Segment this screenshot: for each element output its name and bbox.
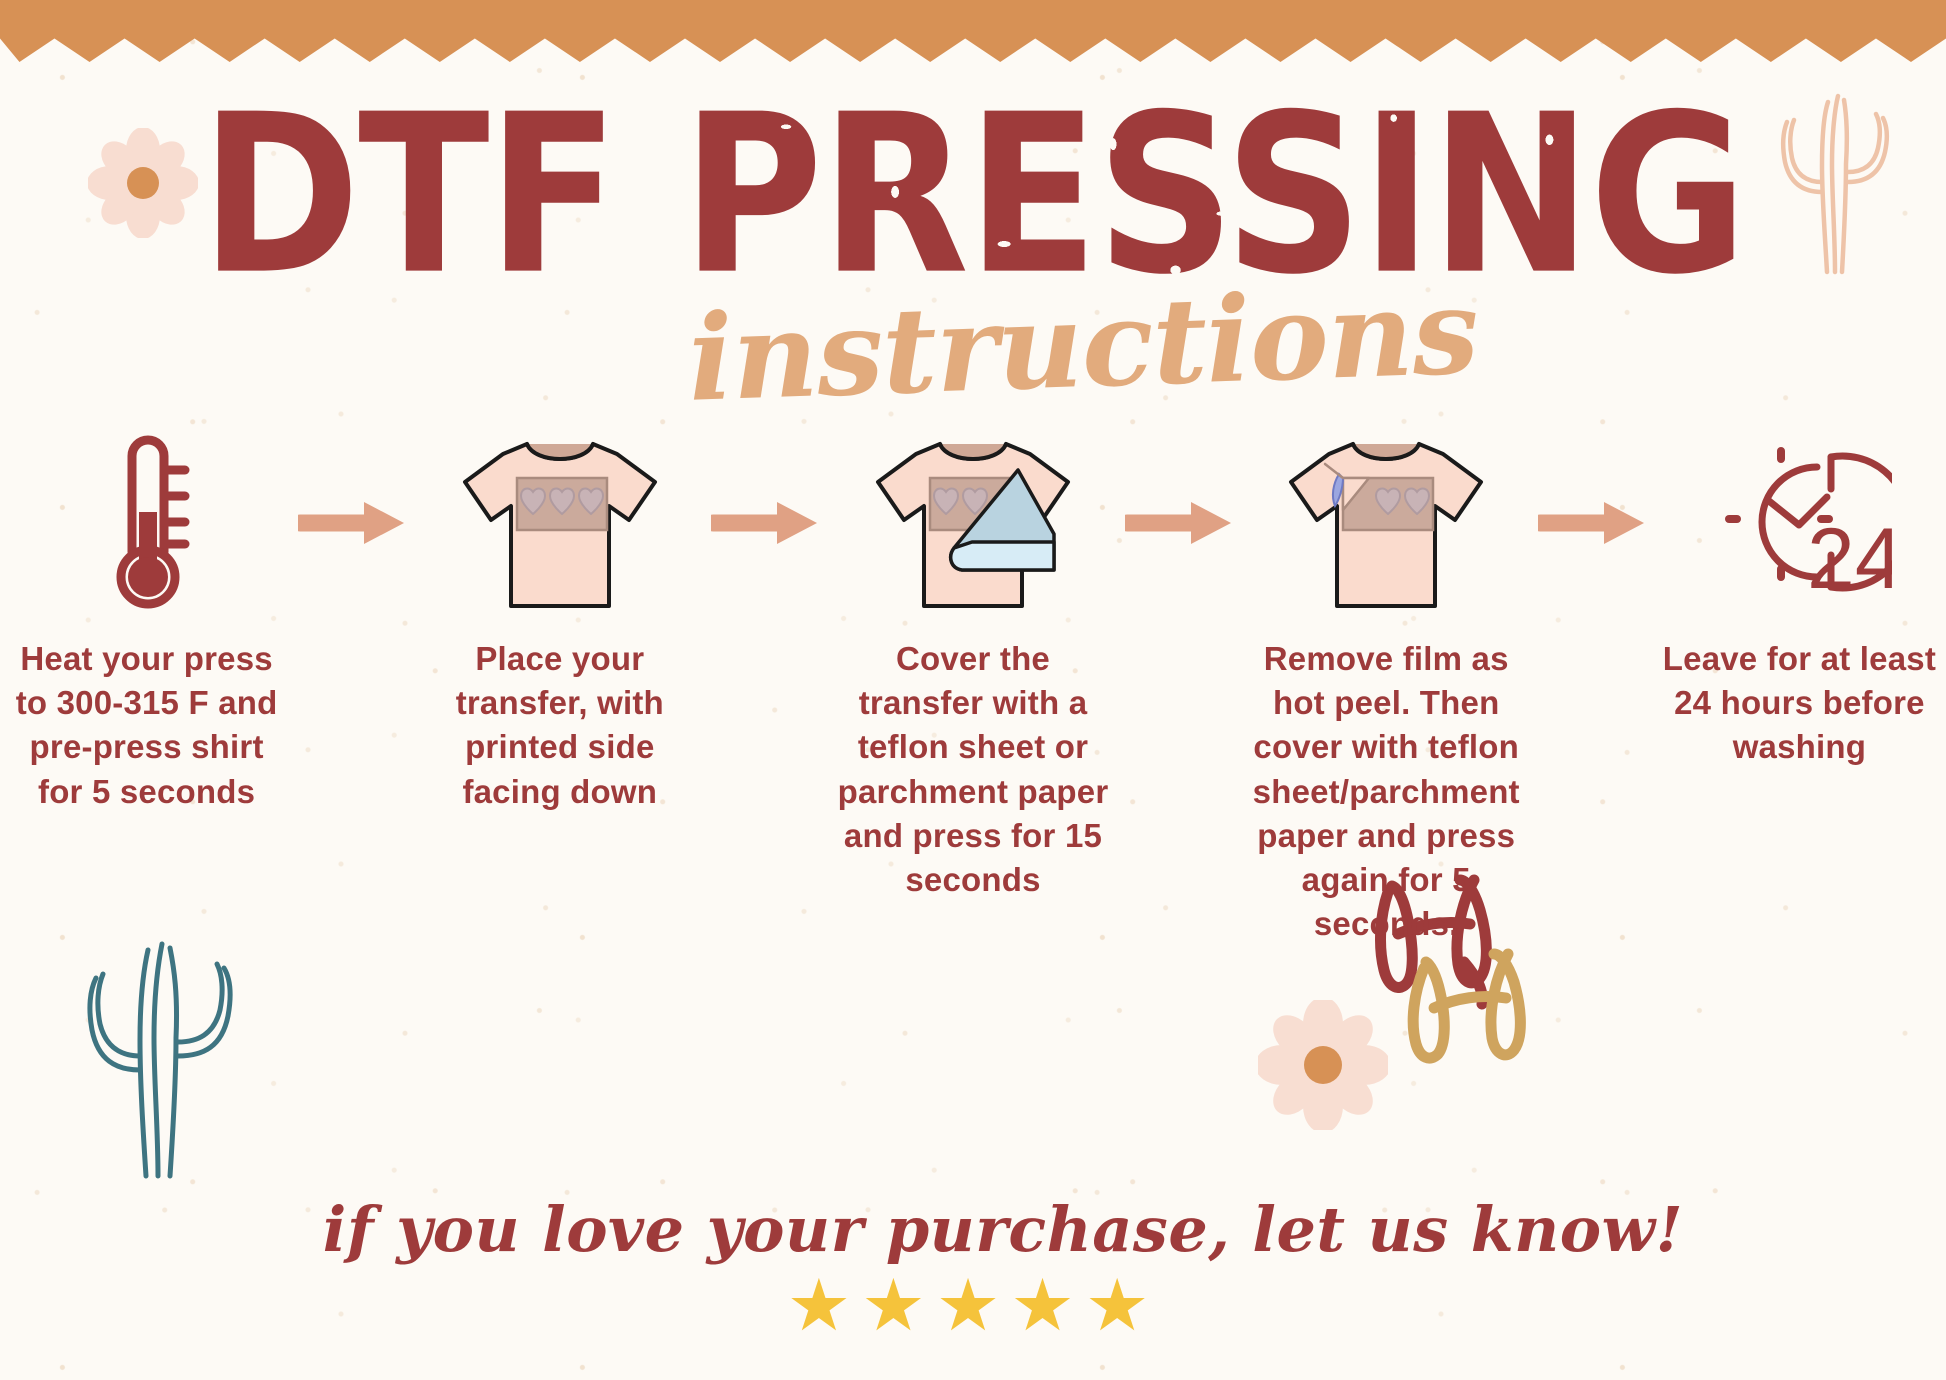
star-icon-3: ★ (936, 1270, 1011, 1342)
clock-24-hours-icon: 24 (1707, 430, 1892, 615)
star-icon-2: ★ (861, 1270, 936, 1342)
step-3-text: Cover the transfer with a teflon sheet o… (836, 637, 1111, 902)
tshirt-peel-film-icon (1281, 430, 1491, 615)
step-5: 24 Leave for at least 24 hours before wa… (1653, 430, 1946, 770)
tshirt-with-transfer-icon (455, 430, 665, 615)
cactus-bottom-left-icon (78, 930, 248, 1185)
arrow-right-icon-4 (1533, 430, 1653, 615)
clock-badge-number: 24 (1807, 511, 1892, 607)
star-icon-4: ★ (1010, 1270, 1085, 1342)
step-4-text: Remove film as hot peel. Then cover with… (1249, 637, 1524, 947)
header: DTF PRESSING instructions (0, 95, 1946, 261)
thermometer-icon (82, 430, 212, 615)
star-icon-1: ★ (787, 1270, 862, 1342)
arrow-right-icon-1 (293, 430, 413, 615)
instruction-steps: Heat your press to 300-315 F and pre-pre… (0, 430, 1946, 900)
star-icon-5: ★ (1085, 1270, 1160, 1342)
footer-note: if you love your purchase, let us know! (30, 1193, 1946, 1266)
step-1: Heat your press to 300-315 F and pre-pre… (0, 430, 293, 814)
arrow-right-icon-3 (1120, 430, 1240, 615)
footer: if you love your purchase, let us know! … (0, 1193, 1946, 1342)
step-3: Cover the transfer with a teflon sheet o… (826, 430, 1119, 902)
step-4: Remove film as hot peel. Then cover with… (1240, 430, 1533, 947)
step-2: Place your transfer, with printed side f… (413, 430, 706, 814)
step-5-text: Leave for at least 24 hours before washi… (1662, 637, 1937, 770)
arrow-right-icon-2 (706, 430, 826, 615)
torn-paper-top-band (0, 0, 1946, 62)
tshirt-with-teflon-sheet-icon (868, 430, 1078, 615)
star-rating: ★★★★★ (0, 1270, 1946, 1342)
step-1-text: Heat your press to 300-315 F and pre-pre… (9, 637, 284, 814)
step-2-text: Place your transfer, with printed side f… (422, 637, 697, 814)
